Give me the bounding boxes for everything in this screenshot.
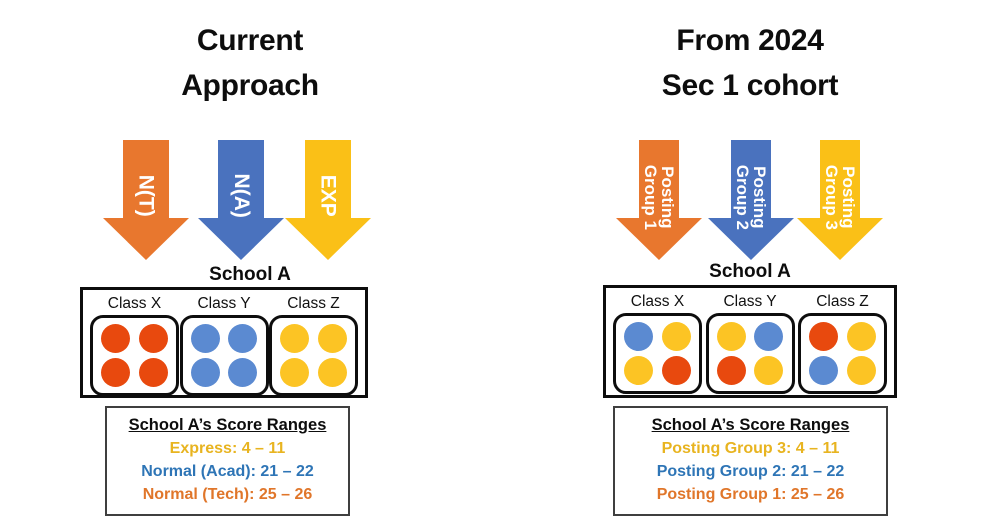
panel-current-approach: Current Approach N(T) (0, 0, 500, 525)
score-range-line: Posting Group 3: 4 – 11 (627, 437, 874, 460)
school-title: School A (0, 264, 500, 286)
score-range-line: Posting Group 1: 25 – 26 (627, 483, 874, 506)
student-dot (139, 358, 168, 387)
arrow-row: Posting Group 1 Posting Group 2 (500, 140, 1000, 265)
class-name: Class Z (269, 294, 358, 314)
student-dot (809, 322, 838, 351)
class-column-z: Class Z (269, 294, 358, 396)
class-box (798, 313, 887, 394)
school-title: School A (500, 261, 1000, 283)
student-dot (847, 322, 876, 351)
panel-heading-line-2: Sec 1 cohort (500, 63, 1000, 108)
class-name: Class Y (706, 292, 795, 312)
class-name: Class X (613, 292, 702, 312)
class-box (180, 315, 269, 396)
class-box (269, 315, 358, 396)
score-range-line: Normal (Acad): 21 – 22 (119, 460, 336, 483)
student-dot (662, 356, 691, 385)
panel-heading-line-1: From 2024 (500, 18, 1000, 63)
student-dot (662, 322, 691, 351)
arrow-shape (708, 140, 794, 260)
class-name: Class Z (798, 292, 887, 312)
score-ranges-title: School A’s Score Ranges (627, 414, 874, 437)
student-dot (228, 324, 257, 353)
panel-from-2024-sec1-cohort: From 2024 Sec 1 cohort Posting Group 1 (500, 0, 1000, 525)
student-dot (101, 358, 130, 387)
arrow-shape (616, 140, 702, 260)
student-dot (280, 324, 309, 353)
student-dot (318, 324, 347, 353)
arrow-shape (103, 140, 189, 260)
student-dot (717, 356, 746, 385)
school-box: Class X Class Y Class Z (603, 285, 897, 398)
student-dot (754, 356, 783, 385)
class-name: Class Y (180, 294, 269, 314)
class-name: Class X (90, 294, 179, 314)
student-dot (717, 322, 746, 351)
student-dot (101, 324, 130, 353)
student-dot (139, 324, 168, 353)
school-box: Class X Class Y Class Z (80, 287, 368, 398)
class-box (613, 313, 702, 394)
student-dot (318, 358, 347, 387)
arrow-posting-group-2: Posting Group 2 (708, 140, 794, 260)
arrow-shape (285, 140, 371, 260)
student-dot (228, 358, 257, 387)
arrow-row: N(T) N(A) (0, 140, 500, 265)
class-column-z: Class Z (798, 292, 887, 394)
student-dot (191, 358, 220, 387)
score-range-line: Express: 4 – 11 (119, 437, 336, 460)
panel-heading: From 2024 Sec 1 cohort (500, 18, 1000, 108)
arrow-shape (198, 140, 284, 260)
student-dot (624, 322, 653, 351)
arrow-shape (797, 140, 883, 260)
arrow-posting-group-1: Posting Group 1 (616, 140, 702, 260)
student-dot (809, 356, 838, 385)
student-dot (754, 322, 783, 351)
score-ranges-title: School A’s Score Ranges (119, 414, 336, 437)
class-box (90, 315, 179, 396)
arrow-nt: N(T) (103, 140, 189, 260)
panel-heading: Current Approach (0, 18, 500, 108)
arrow-posting-group-3: Posting Group 3 (797, 140, 883, 260)
student-dot (191, 324, 220, 353)
arrow-exp: EXP (285, 140, 371, 260)
class-box (706, 313, 795, 394)
class-column-y: Class Y (706, 292, 795, 394)
score-ranges-box: School A’s Score Ranges Posting Group 3:… (613, 406, 888, 516)
student-dot (847, 356, 876, 385)
panel-heading-line-1: Current (0, 18, 500, 63)
diagram-root: Current Approach N(T) (0, 0, 1000, 525)
arrow-na: N(A) (198, 140, 284, 260)
score-ranges-box: School A’s Score Ranges Express: 4 – 11 … (105, 406, 350, 516)
class-column-y: Class Y (180, 294, 269, 396)
class-column-x: Class X (613, 292, 702, 394)
student-dot (280, 358, 309, 387)
score-range-line: Posting Group 2: 21 – 22 (627, 460, 874, 483)
student-dot (624, 356, 653, 385)
score-range-line: Normal (Tech): 25 – 26 (119, 483, 336, 506)
class-column-x: Class X (90, 294, 179, 396)
panel-heading-line-2: Approach (0, 63, 500, 108)
